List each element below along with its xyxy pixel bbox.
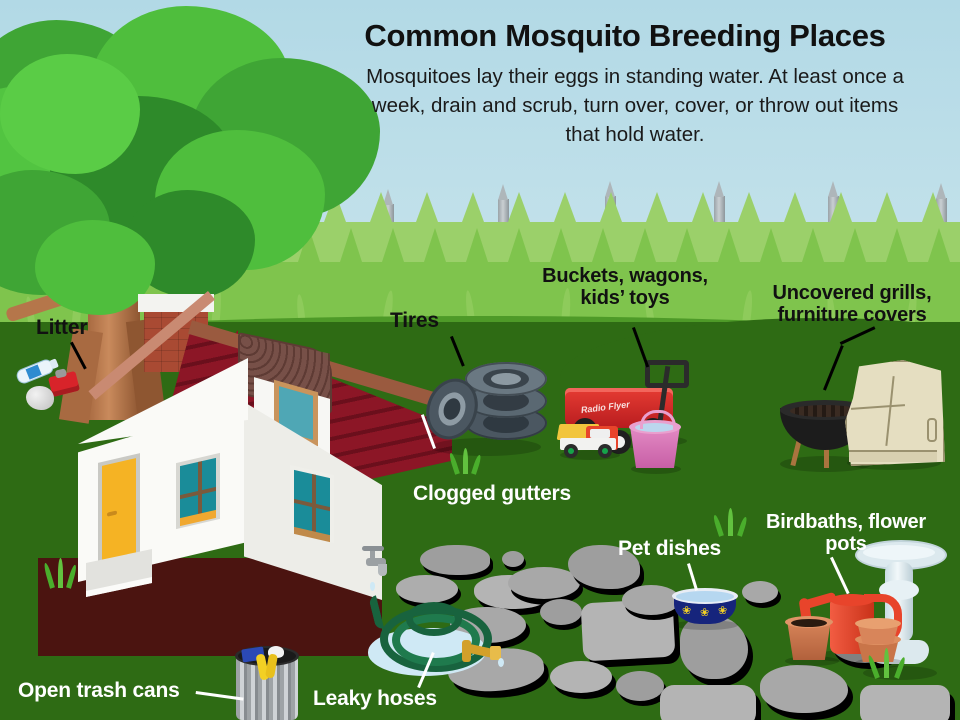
grass-tuft (452, 448, 482, 474)
front-door[interactable] (98, 453, 140, 569)
tire-stacked (465, 362, 547, 396)
hose-coil (406, 602, 462, 636)
label-petdishes: Pet dishes (618, 537, 721, 561)
toy-dump-truck (558, 418, 624, 460)
truck-wheel (564, 444, 578, 458)
pink-bucket (630, 418, 682, 474)
label-hoses: Leaky hoses (313, 687, 437, 711)
stone (550, 661, 612, 693)
stone (616, 671, 664, 701)
label-birdbaths: Birdbaths, flower pots (748, 511, 944, 556)
label-grills: Uncovered grills, furniture covers (752, 282, 952, 327)
grass-tuft (716, 508, 748, 536)
water-drip (370, 582, 375, 591)
flower-pots (785, 612, 841, 666)
stone (540, 599, 582, 625)
outdoor-faucet (358, 548, 392, 582)
tree-foliage (35, 220, 155, 315)
front-window (176, 453, 220, 529)
paw-print-icon: ❀ (682, 606, 693, 617)
stone (420, 545, 490, 575)
stone (860, 685, 950, 720)
side-window (290, 465, 334, 543)
tree-foliage (0, 54, 140, 174)
pet-dish: ❀ ❀ ❀ (672, 588, 740, 630)
water-drip (498, 658, 504, 667)
label-litter: Litter (36, 316, 87, 340)
paw-print-icon: ❀ (700, 608, 711, 619)
label-buckets: Buckets, wagons, kids’ toys (540, 265, 710, 310)
truck-wheel (598, 444, 612, 458)
grass-tuft (46, 558, 76, 588)
pot-soil (791, 619, 827, 627)
stone (760, 665, 848, 713)
tires (425, 358, 545, 458)
hose-end (368, 592, 398, 630)
stone (660, 685, 756, 720)
leaky-hose (368, 596, 508, 680)
page-title: Common Mosquito Breeding Places (300, 18, 950, 54)
label-gutters: Clogged gutters (413, 482, 571, 506)
wagon-handle-grip (645, 360, 689, 388)
paw-print-icon: ❀ (718, 606, 729, 617)
page-subtitle: Mosquitoes lay their eggs in standing wa… (355, 62, 915, 149)
stone (502, 551, 524, 567)
furniture-cover (845, 360, 943, 470)
infographic-poster: Radio Flyer (0, 0, 960, 720)
stone (742, 581, 778, 603)
trash-can (236, 646, 300, 720)
dish-water (676, 591, 734, 602)
label-trashcans: Open trash cans (18, 679, 180, 703)
grass-tuft (872, 648, 906, 678)
label-tires: Tires (390, 309, 439, 333)
